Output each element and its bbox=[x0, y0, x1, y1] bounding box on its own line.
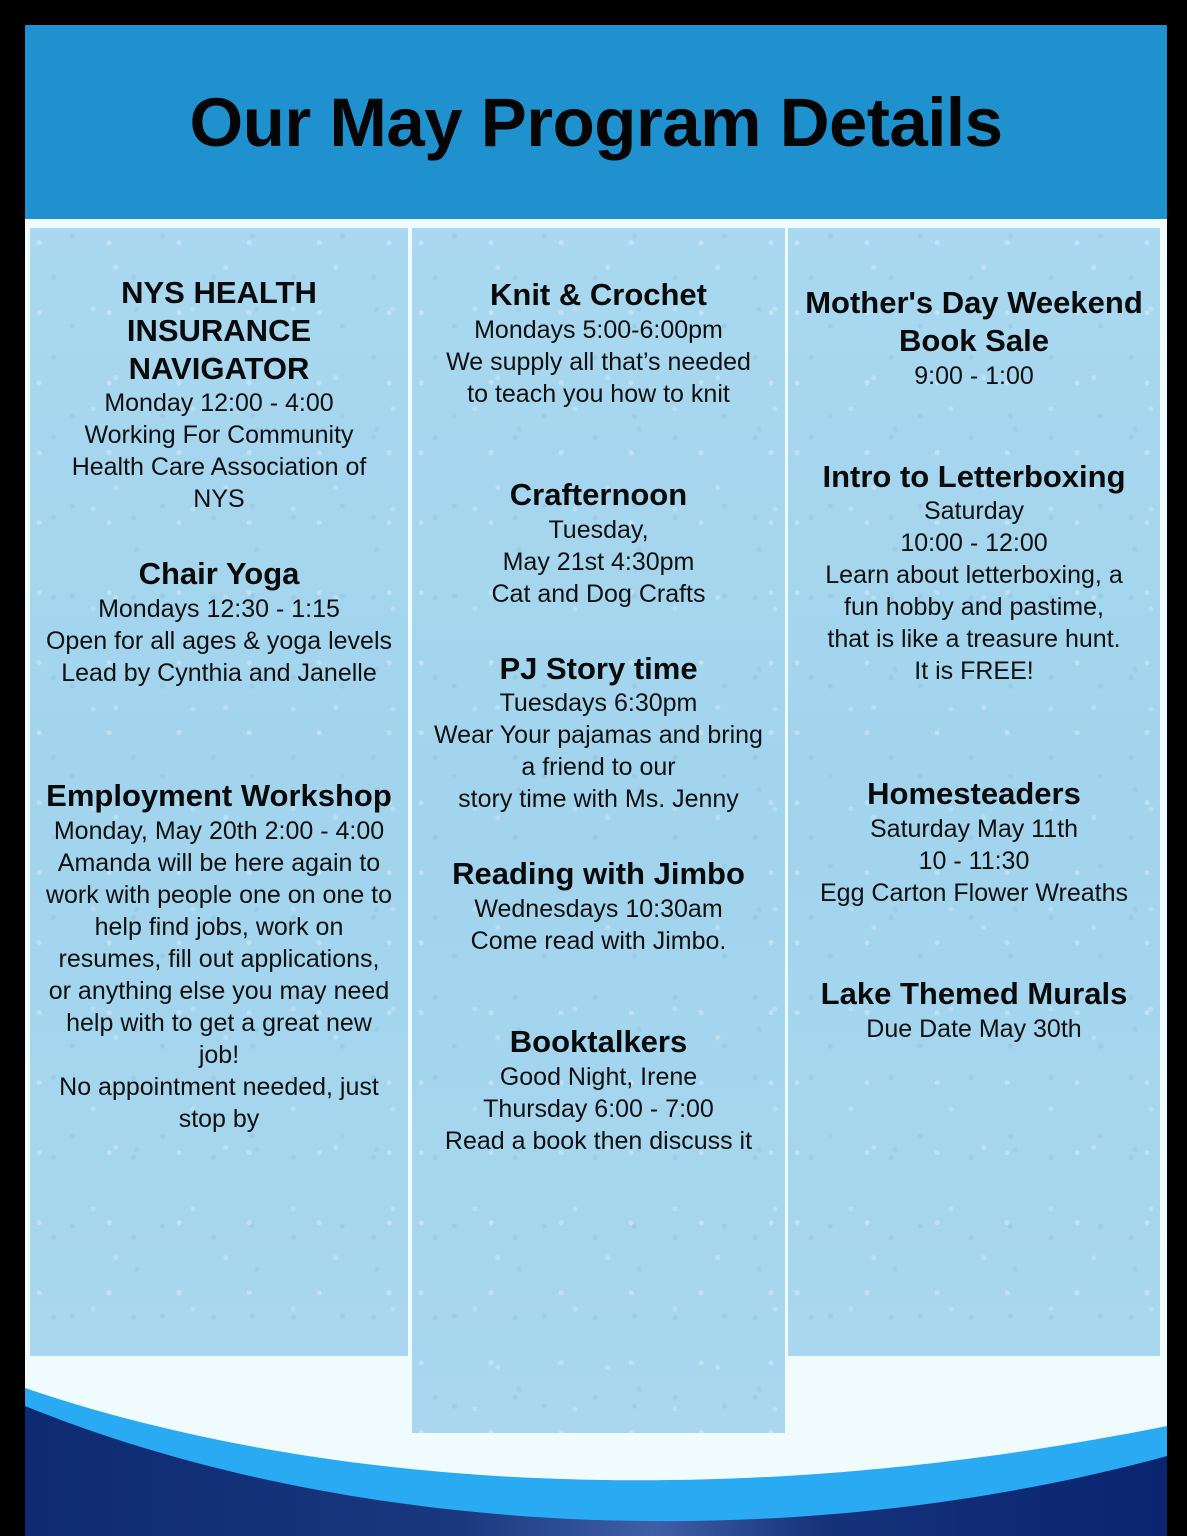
program-detail-line: job! bbox=[38, 1039, 400, 1071]
program-detail-line: that is like a treasure hunt. bbox=[796, 623, 1152, 655]
program-detail-line: Saturday May 11th bbox=[796, 813, 1152, 845]
program-spacer bbox=[796, 392, 1152, 458]
program-block: Reading with JimboWednesdays 10:30amCome… bbox=[420, 855, 777, 957]
program-detail-line: Read a book then discuss it bbox=[420, 1125, 777, 1157]
program-detail-line: Monday, May 20th 2:00 - 4:00 bbox=[38, 815, 400, 847]
program-detail-line: Thursday 6:00 - 7:00 bbox=[420, 1093, 777, 1125]
program-detail-line: to teach you how to knit bbox=[420, 378, 777, 410]
program-detail-line: Come read with Jimbo. bbox=[420, 925, 777, 957]
program-detail-line: work with people one on one to bbox=[38, 879, 400, 911]
frame-left-border bbox=[0, 0, 25, 1536]
program-detail-line: Lead by Cynthia and Janelle bbox=[38, 657, 400, 689]
program-title: Homesteaders bbox=[796, 775, 1152, 813]
program-title: Intro to Letterboxing bbox=[796, 458, 1152, 496]
program-block: Intro to LetterboxingSaturday10:00 - 12:… bbox=[796, 458, 1152, 688]
program-spacer bbox=[420, 610, 777, 650]
program-column-3: Mother's Day Weekend Book Sale9:00 - 1:0… bbox=[788, 228, 1160, 1356]
program-block: NYS HEALTH INSURANCE NAVIGATORMonday 12:… bbox=[38, 228, 400, 515]
program-detail-line: stop by bbox=[38, 1103, 400, 1135]
program-title: Booktalkers bbox=[420, 1023, 777, 1061]
program-detail-line: a friend to our bbox=[420, 751, 777, 783]
program-detail-line: Amanda will be here again to bbox=[38, 847, 400, 879]
program-spacer bbox=[38, 515, 400, 555]
program-detail-line: 10:00 - 12:00 bbox=[796, 527, 1152, 559]
program-title: Mother's Day Weekend Book Sale bbox=[796, 284, 1152, 360]
program-details-poster: Our May Program Details NYS HEALTH INSUR… bbox=[0, 0, 1187, 1536]
program-detail-line: Health Care Association of bbox=[38, 451, 400, 483]
frame-right-border bbox=[1167, 0, 1187, 1536]
program-block: Mother's Day Weekend Book Sale9:00 - 1:0… bbox=[796, 228, 1152, 392]
program-block: PJ Story timeTuesdays 6:30pmWear Your pa… bbox=[420, 650, 777, 816]
program-block: Employment WorkshopMonday, May 20th 2:00… bbox=[38, 777, 400, 1135]
program-spacer bbox=[796, 909, 1152, 975]
program-detail-line: Working For Community bbox=[38, 419, 400, 451]
program-detail-line: Tuesday, bbox=[420, 514, 777, 546]
program-title: Crafternoon bbox=[420, 476, 777, 514]
program-block: Knit & CrochetMondays 5:00-6:00pmWe supp… bbox=[420, 228, 777, 410]
program-spacer bbox=[38, 689, 400, 777]
program-detail-line: Due Date May 30th bbox=[796, 1013, 1152, 1045]
program-detail-line: Cat and Dog Crafts bbox=[420, 578, 777, 610]
program-detail-line: Wear Your pajamas and bring bbox=[420, 719, 777, 751]
program-title: NYS HEALTH INSURANCE NAVIGATOR bbox=[38, 274, 400, 387]
program-detail-line: It is FREE! bbox=[796, 655, 1152, 687]
frame-top-border bbox=[0, 0, 1187, 25]
program-detail-line: story time with Ms. Jenny bbox=[420, 783, 777, 815]
program-detail-line: Mondays 12:30 - 1:15 bbox=[38, 593, 400, 625]
program-column-1: NYS HEALTH INSURANCE NAVIGATORMonday 12:… bbox=[30, 228, 408, 1356]
program-detail-line: Saturday bbox=[796, 495, 1152, 527]
program-detail-line: May 21st 4:30pm bbox=[420, 546, 777, 578]
program-detail-line: Wednesdays 10:30am bbox=[420, 893, 777, 925]
program-detail-line: No appointment needed, just bbox=[38, 1071, 400, 1103]
program-title: Lake Themed Murals bbox=[796, 975, 1152, 1013]
program-block: HomesteadersSaturday May 11th10 - 11:30E… bbox=[796, 775, 1152, 909]
program-detail-line: Good Night, Irene bbox=[420, 1061, 777, 1093]
program-detail-line: We supply all that’s needed bbox=[420, 346, 777, 378]
program-spacer bbox=[420, 410, 777, 476]
program-detail-line: Egg Carton Flower Wreaths bbox=[796, 877, 1152, 909]
program-detail-line: 10 - 11:30 bbox=[796, 845, 1152, 877]
program-column-2: Knit & CrochetMondays 5:00-6:00pmWe supp… bbox=[412, 228, 785, 1433]
program-title: Knit & Crochet bbox=[420, 276, 777, 314]
program-detail-line: help find jobs, work on bbox=[38, 911, 400, 943]
program-detail-line: fun hobby and pastime, bbox=[796, 591, 1152, 623]
program-spacer bbox=[796, 687, 1152, 775]
program-title: PJ Story time bbox=[420, 650, 777, 688]
program-detail-line: Learn about letterboxing, a bbox=[796, 559, 1152, 591]
program-block: Lake Themed MuralsDue Date May 30th bbox=[796, 975, 1152, 1045]
program-spacer bbox=[420, 957, 777, 1023]
program-detail-line: Tuesdays 6:30pm bbox=[420, 687, 777, 719]
program-detail-line: Open for all ages & yoga levels bbox=[38, 625, 400, 657]
program-detail-line: help with to get a great new bbox=[38, 1007, 400, 1039]
program-detail-line: or anything else you may need bbox=[38, 975, 400, 1007]
program-detail-line: Mondays 5:00-6:00pm bbox=[420, 314, 777, 346]
program-spacer bbox=[420, 815, 777, 855]
program-detail-line: NYS bbox=[38, 483, 400, 515]
program-columns: NYS HEALTH INSURANCE NAVIGATORMonday 12:… bbox=[0, 0, 1187, 1536]
program-detail-line: Monday 12:00 - 4:00 bbox=[38, 387, 400, 419]
program-title: Chair Yoga bbox=[38, 555, 400, 593]
program-block: Chair YogaMondays 12:30 - 1:15Open for a… bbox=[38, 555, 400, 689]
program-block: BooktalkersGood Night, IreneThursday 6:0… bbox=[420, 1023, 777, 1157]
program-detail-line: resumes, fill out applications, bbox=[38, 943, 400, 975]
program-block: CrafternoonTuesday,May 21st 4:30pmCat an… bbox=[420, 476, 777, 610]
program-detail-line: 9:00 - 1:00 bbox=[796, 360, 1152, 392]
program-title: Reading with Jimbo bbox=[420, 855, 777, 893]
program-title: Employment Workshop bbox=[38, 777, 400, 815]
